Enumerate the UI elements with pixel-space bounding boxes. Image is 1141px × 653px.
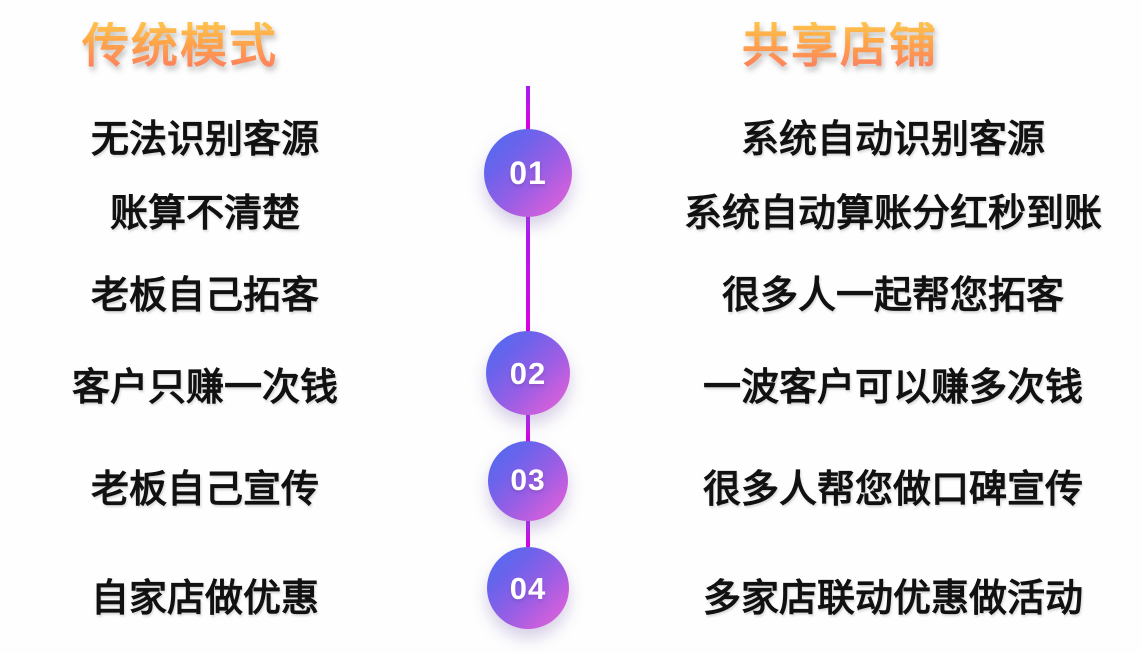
left-list-item: 账算不清楚	[110, 195, 300, 233]
timeline-node-label: 04	[510, 573, 546, 604]
right-list-item: 系统自动识别客源	[741, 121, 1045, 159]
left-list-item: 无法识别客源	[91, 121, 319, 159]
timeline-connector	[526, 215, 530, 333]
right-list-item: 一波客户可以赚多次钱	[703, 369, 1083, 407]
timeline-node-label: 03	[510, 466, 545, 496]
timeline-node-label: 02	[510, 358, 546, 389]
timeline-node-03[interactable]: 03	[488, 441, 568, 521]
left-list-item: 自家店做优惠	[91, 580, 319, 618]
right-list-item: 多家店联动优惠做活动	[703, 580, 1083, 618]
right-list-item: 系统自动算账分红秒到账	[684, 195, 1102, 233]
right-column-title: 共享店铺	[742, 22, 938, 69]
timeline-connector	[526, 519, 530, 549]
left-list-item: 老板自己拓客	[91, 277, 319, 315]
right-list-item: 很多人帮您做口碑宣传	[703, 471, 1083, 509]
timeline-node-02[interactable]: 02	[486, 331, 570, 415]
timeline-connector	[526, 413, 530, 443]
timeline-connector	[526, 86, 530, 131]
infographic-canvas: 传统模式 共享店铺 无法识别客源账算不清楚老板自己拓客客户只赚一次钱老板自己宣传…	[0, 0, 1141, 653]
timeline-node-label: 01	[509, 157, 547, 189]
timeline-node-04[interactable]: 04	[487, 547, 569, 629]
left-list-item: 老板自己宣传	[91, 471, 319, 509]
left-column-title: 传统模式	[82, 22, 278, 69]
center-timeline: 01020304	[0, 0, 1141, 653]
right-list-item: 很多人一起帮您拓客	[722, 277, 1064, 315]
left-list-item: 客户只赚一次钱	[72, 369, 338, 407]
timeline-node-01[interactable]: 01	[484, 129, 572, 217]
